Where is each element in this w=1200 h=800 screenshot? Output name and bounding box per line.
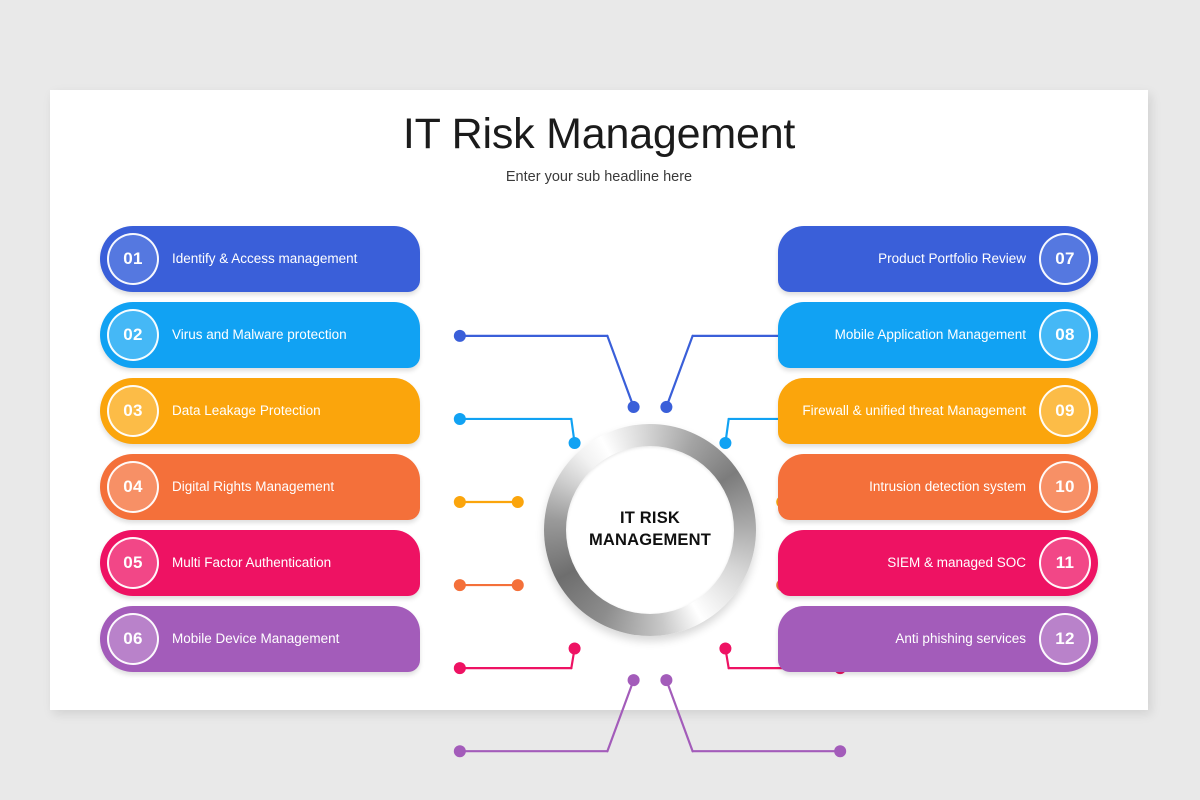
connector-segment bbox=[607, 336, 633, 407]
connector-dot bbox=[512, 496, 524, 508]
connector-dot bbox=[512, 579, 524, 591]
connector-dot bbox=[569, 642, 581, 654]
ring-label-line2: MANAGEMENT bbox=[589, 530, 711, 552]
ring-inner-disc: IT RISK MANAGEMENT bbox=[566, 446, 734, 614]
connector-dot bbox=[454, 330, 466, 342]
item-label-03: Data Leakage Protection bbox=[172, 378, 404, 444]
item-number-badge-06: 06 bbox=[107, 613, 159, 665]
ring-label-line1: IT RISK bbox=[589, 508, 711, 530]
connector-dot bbox=[660, 674, 672, 686]
connector-dot bbox=[454, 662, 466, 674]
item-number-badge-10: 10 bbox=[1039, 461, 1091, 513]
item-label-06: Mobile Device Management bbox=[172, 606, 404, 672]
connector-dot bbox=[454, 579, 466, 591]
item-label-02: Virus and Malware protection bbox=[172, 302, 404, 368]
item-label-04: Digital Rights Management bbox=[172, 454, 404, 520]
connector-dot bbox=[719, 642, 731, 654]
item-number-badge-05: 05 bbox=[107, 537, 159, 589]
item-bar-01[interactable]: 01Identify & Access management bbox=[100, 226, 420, 292]
item-label-07: Product Portfolio Review bbox=[794, 226, 1026, 292]
item-bar-06[interactable]: 06Mobile Device Management bbox=[100, 606, 420, 672]
item-number-badge-07: 07 bbox=[1039, 233, 1091, 285]
item-label-05: Multi Factor Authentication bbox=[172, 530, 404, 596]
item-bar-08[interactable]: 08Mobile Application Management bbox=[778, 302, 1098, 368]
item-number-badge-09: 09 bbox=[1039, 385, 1091, 437]
connector-segment bbox=[666, 336, 692, 407]
item-bar-07[interactable]: 07Product Portfolio Review bbox=[778, 226, 1098, 292]
item-number-badge-04: 04 bbox=[107, 461, 159, 513]
connector-dot bbox=[454, 496, 466, 508]
item-label-11: SIEM & managed SOC bbox=[794, 530, 1026, 596]
item-number-badge-02: 02 bbox=[107, 309, 159, 361]
item-label-10: Intrusion detection system bbox=[794, 454, 1026, 520]
connector-segment bbox=[725, 648, 728, 668]
connector-dot bbox=[628, 674, 640, 686]
page-title: IT Risk Management bbox=[50, 112, 1148, 157]
item-bar-11[interactable]: 11SIEM & managed SOC bbox=[778, 530, 1098, 596]
item-label-08: Mobile Application Management bbox=[794, 302, 1026, 368]
item-label-09: Firewall & unified threat Management bbox=[794, 378, 1026, 444]
connector-dot bbox=[834, 745, 846, 757]
item-label-01: Identify & Access management bbox=[172, 226, 404, 292]
connector-segment bbox=[607, 680, 633, 751]
item-bar-10[interactable]: 10Intrusion detection system bbox=[778, 454, 1098, 520]
item-number-badge-12: 12 bbox=[1039, 613, 1091, 665]
item-bar-03[interactable]: 03Data Leakage Protection bbox=[100, 378, 420, 444]
slide-canvas: IT Risk Management Enter your sub headli… bbox=[0, 0, 1200, 800]
connector-dot bbox=[454, 745, 466, 757]
connector-segment bbox=[666, 680, 692, 751]
page-subtitle: Enter your sub headline here bbox=[50, 169, 1148, 185]
item-bar-12[interactable]: 12Anti phishing services bbox=[778, 606, 1098, 672]
connector-dot bbox=[660, 401, 672, 413]
ring-label: IT RISK MANAGEMENT bbox=[589, 508, 711, 552]
center-ring: IT RISK MANAGEMENT bbox=[544, 424, 756, 636]
item-number-badge-08: 08 bbox=[1039, 309, 1091, 361]
item-bar-05[interactable]: 05Multi Factor Authentication bbox=[100, 530, 420, 596]
item-number-badge-03: 03 bbox=[107, 385, 159, 437]
item-number-badge-11: 11 bbox=[1039, 537, 1091, 589]
item-bar-02[interactable]: 02Virus and Malware protection bbox=[100, 302, 420, 368]
item-bar-04[interactable]: 04Digital Rights Management bbox=[100, 454, 420, 520]
item-bar-09[interactable]: 09Firewall & unified threat Management bbox=[778, 378, 1098, 444]
connector-segment bbox=[571, 648, 574, 668]
item-label-12: Anti phishing services bbox=[794, 606, 1026, 672]
slide: IT Risk Management Enter your sub headli… bbox=[50, 90, 1148, 710]
connector-dot bbox=[628, 401, 640, 413]
connector-dot bbox=[454, 413, 466, 425]
item-number-badge-01: 01 bbox=[107, 233, 159, 285]
